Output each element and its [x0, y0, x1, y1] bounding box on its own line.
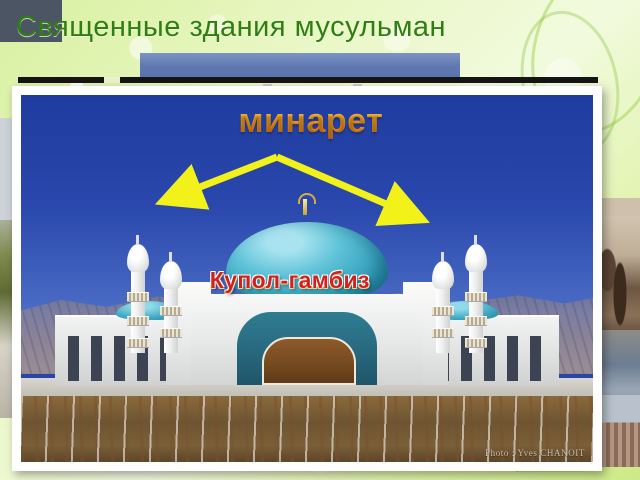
minaret-tall-left	[131, 270, 145, 352]
decorative-blue-bar	[140, 53, 460, 77]
minaret-balcony	[432, 328, 454, 338]
crescent-finial-icon	[303, 199, 307, 215]
minaret-balcony	[127, 316, 149, 326]
minaret-balcony	[432, 306, 454, 316]
minaret-balcony	[465, 338, 487, 348]
annotation-label-minaret: минарет	[238, 102, 383, 141]
minaret-short-left	[164, 287, 178, 353]
annotation-label-kupol: Купол-гамбиз	[210, 267, 370, 294]
minaret-balcony	[465, 316, 487, 326]
minaret-balcony	[160, 328, 182, 338]
thumbnail-arches	[600, 198, 640, 348]
slide-title: Священные здания мусульман	[16, 6, 640, 48]
minaret-cap-icon	[160, 261, 182, 289]
mosque-photo: минарет Купол-гамбиз Photo : Yves CHANOI…	[21, 95, 593, 462]
photo-frame: минарет Купол-гамбиз Photo : Yves CHANOI…	[12, 86, 602, 471]
mosque-building	[55, 238, 558, 385]
minaret-cap-icon	[465, 244, 487, 272]
minaret-balcony	[127, 338, 149, 348]
minaret-tall-right	[469, 270, 483, 352]
photo-watermark: Photo : Yves CHANOIT	[485, 448, 585, 458]
minaret-balcony	[127, 292, 149, 302]
presentation-slide: Священные здания мусульман	[0, 0, 640, 480]
decorative-bar-gap	[104, 77, 120, 83]
minaret-short-right	[436, 287, 450, 353]
minaret-cap-icon	[127, 244, 149, 272]
minaret-balcony	[465, 292, 487, 302]
minaret-balcony	[160, 306, 182, 316]
mosque-entrance-door	[262, 337, 357, 385]
thumbnail-venice	[598, 395, 640, 467]
minaret-cap-icon	[432, 261, 454, 289]
